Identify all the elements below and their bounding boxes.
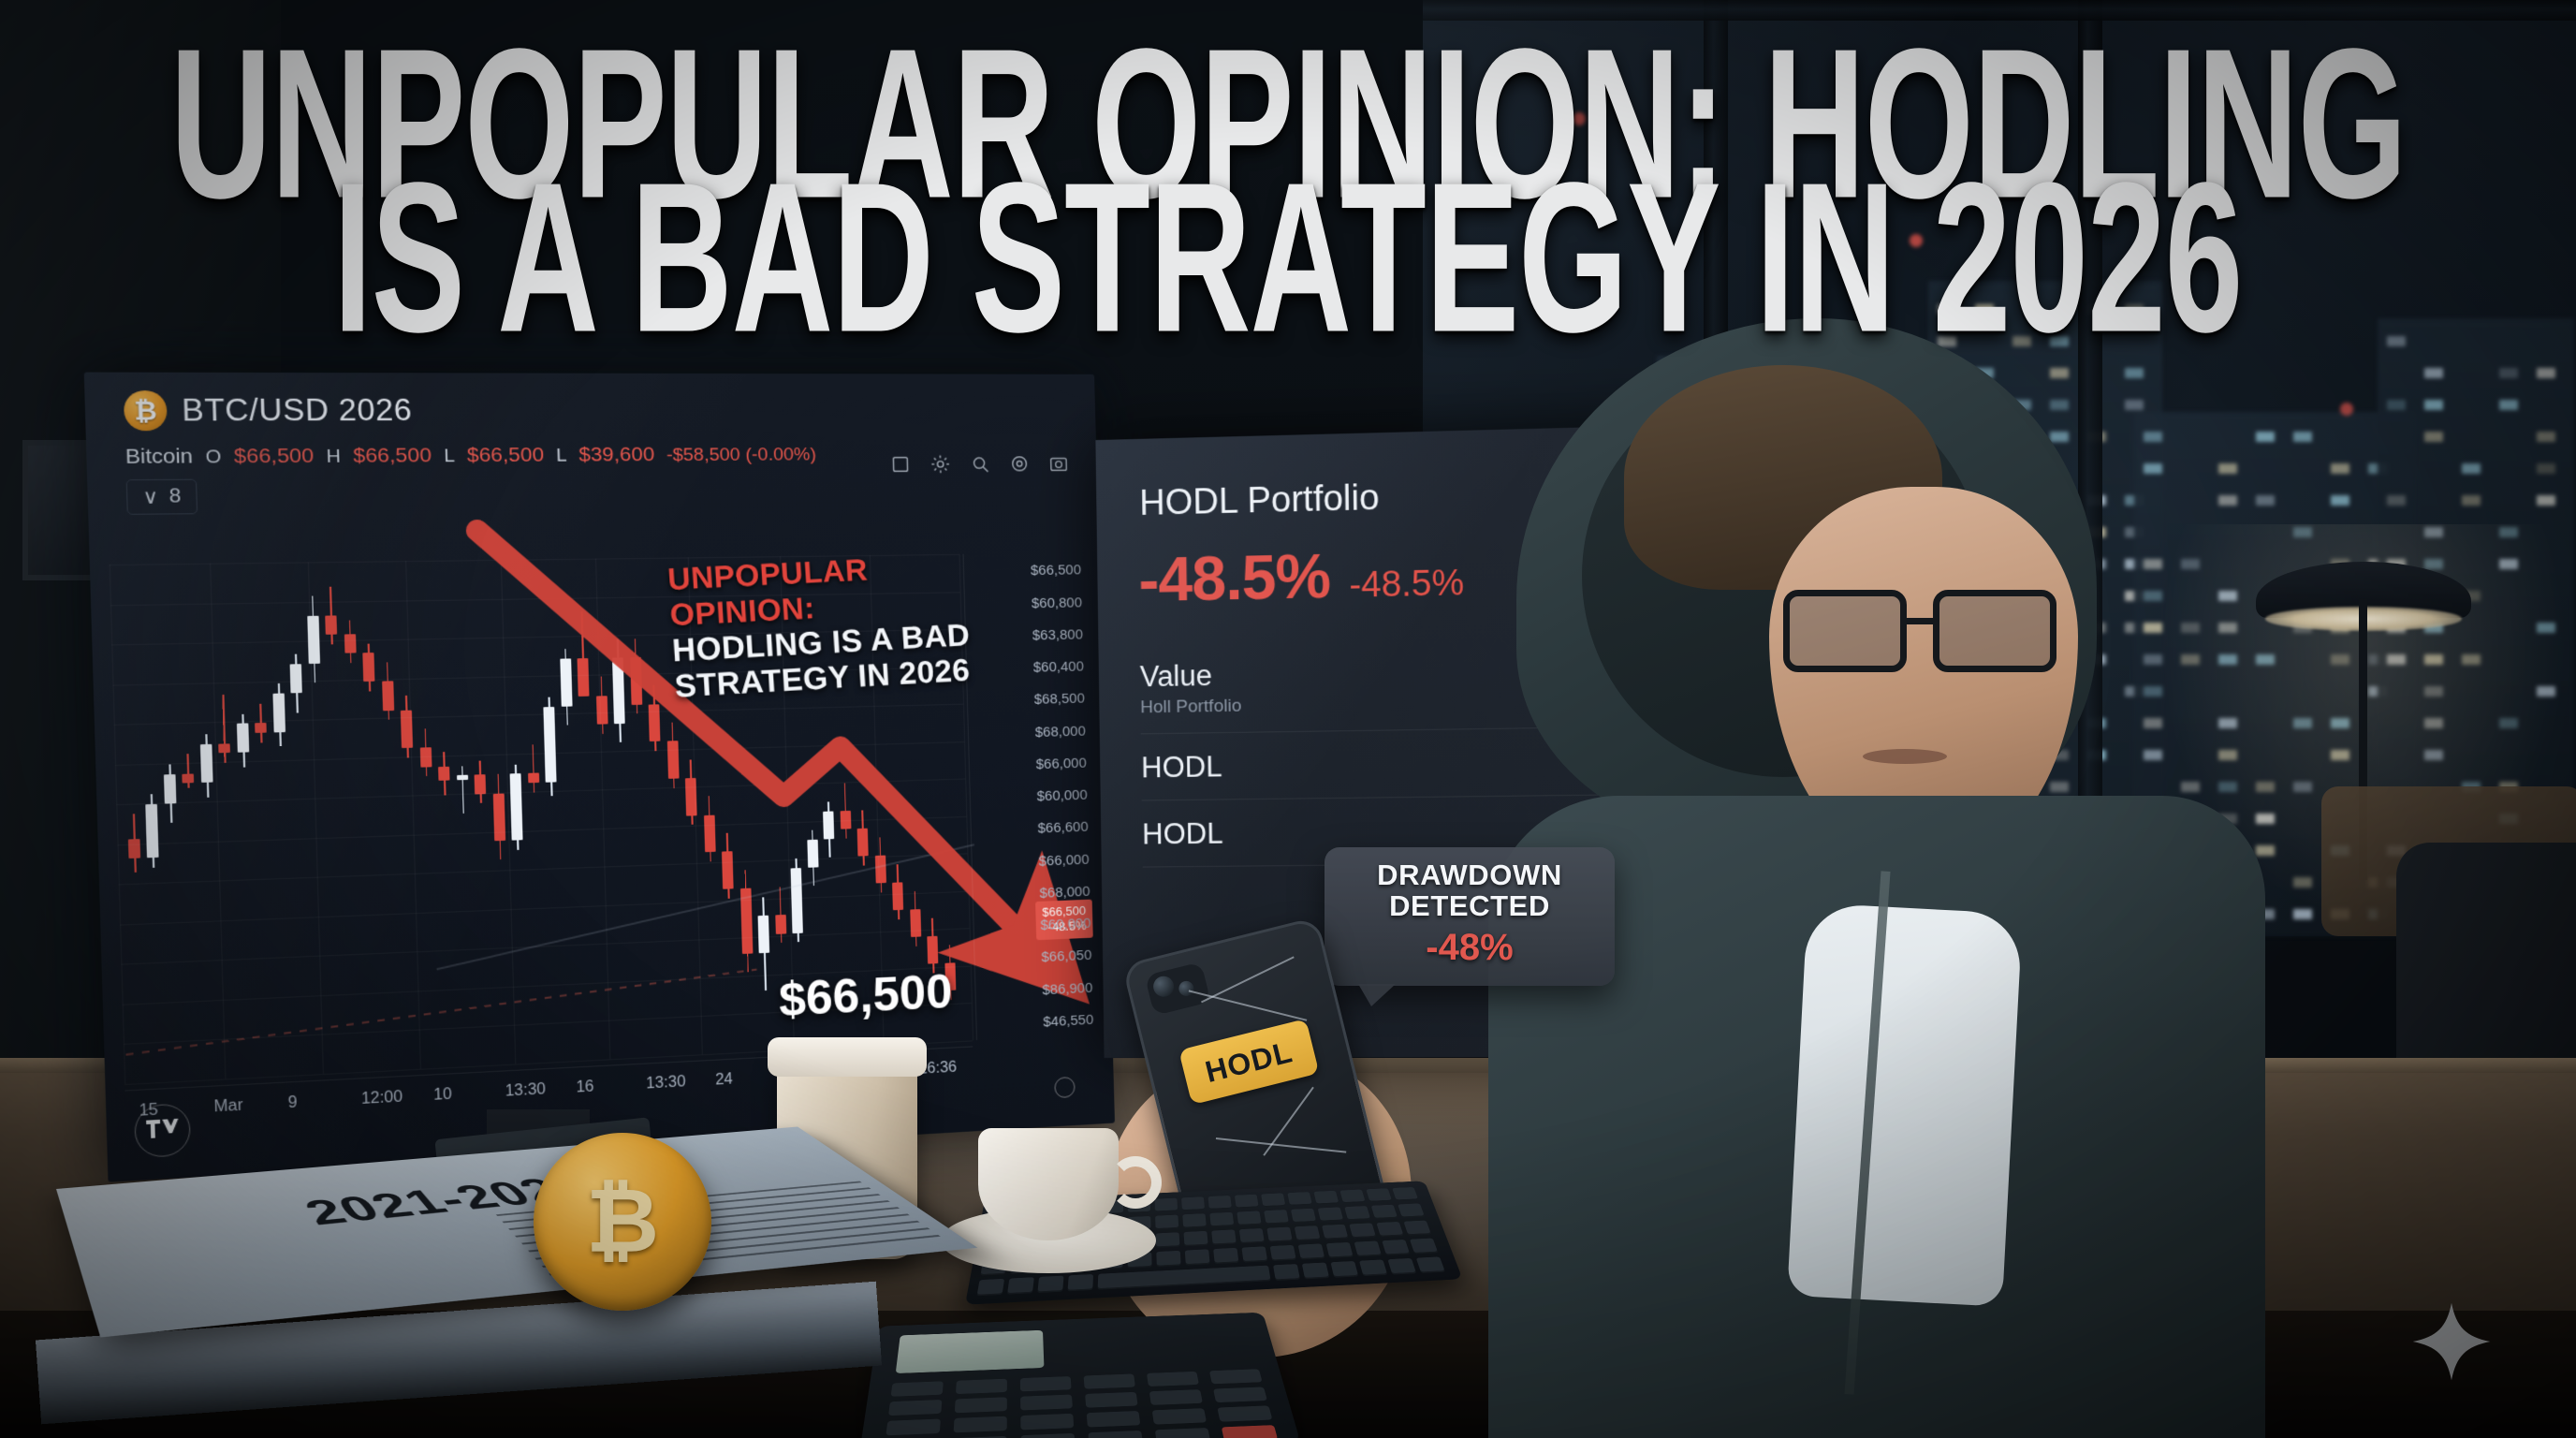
screen-crack: [1216, 1137, 1346, 1152]
calculator-key[interactable]: [1084, 1373, 1135, 1388]
screen-crack: [1189, 990, 1308, 1020]
price-axis-label: $68,000: [1035, 723, 1086, 740]
candle-body: [164, 774, 176, 804]
keyboard-key[interactable]: [1322, 1225, 1348, 1240]
price-axis-label: $60,000: [1040, 916, 1090, 933]
candle-body: [344, 634, 357, 653]
keyboard-key[interactable]: [1098, 1266, 1271, 1290]
calculator-key[interactable]: [1155, 1428, 1211, 1438]
keyboard-key[interactable]: [1270, 1245, 1296, 1261]
keyboard-key[interactable]: [1398, 1203, 1425, 1217]
keyboard-key[interactable]: [1287, 1192, 1312, 1206]
calculator-key[interactable]: [1020, 1414, 1074, 1431]
calculator-key[interactable]: [1085, 1392, 1137, 1408]
cup-handle: [1109, 1156, 1162, 1209]
tradingview-logo-icon: [134, 1103, 191, 1158]
candle-body: [219, 743, 231, 754]
keyboard-key[interactable]: [1237, 1211, 1261, 1225]
time-axis-label: Mar: [213, 1097, 243, 1117]
candle-body: [326, 615, 338, 635]
price-axis-label: $60,000: [1037, 787, 1088, 805]
time-axis-label: 24: [715, 1071, 733, 1090]
candle-body: [420, 747, 432, 767]
ohlc-low-key: L: [444, 446, 455, 467]
price-axis-label: $66,600: [1037, 819, 1088, 837]
ohlc-high-value: $66,500: [353, 444, 432, 468]
settings-gear-icon[interactable]: [929, 454, 951, 479]
calculator-key[interactable]: [891, 1381, 944, 1396]
ohlc-close-value: $39,600: [578, 443, 655, 466]
calculator-key[interactable]: [956, 1379, 1007, 1394]
keyboard-key[interactable]: [1239, 1228, 1265, 1243]
keyboard-key[interactable]: [977, 1279, 1005, 1297]
clock-icon[interactable]: [1054, 1077, 1075, 1098]
keyboard-key[interactable]: [1155, 1215, 1178, 1230]
portfolio-change-row: -48.5% -48.5%: [1138, 536, 1465, 615]
keyboard-key[interactable]: [1349, 1223, 1376, 1238]
keyboard-key[interactable]: [1183, 1231, 1207, 1246]
screen-crack: [1201, 956, 1295, 1003]
keyboard-key[interactable]: [1326, 1242, 1354, 1258]
chart-symbol: BTC/USD 2026: [182, 392, 413, 429]
keyboard-key[interactable]: [1382, 1240, 1410, 1255]
coffee-cup-lid: [768, 1037, 927, 1077]
camera-lens-icon: [1178, 979, 1195, 997]
candle-body: [382, 682, 394, 711]
keyboard-key[interactable]: [1416, 1256, 1445, 1273]
keyboard-key[interactable]: [1209, 1212, 1234, 1227]
candle-body: [183, 773, 195, 784]
keyboard-key[interactable]: [1037, 1276, 1063, 1293]
bitcoin-icon: ₿: [124, 390, 168, 431]
portfolio-pct-large: -48.5%: [1138, 540, 1331, 616]
calculator-key[interactable]: [1149, 1389, 1203, 1405]
keyboard-key[interactable]: [1182, 1213, 1207, 1228]
keyboard-key[interactable]: [1007, 1277, 1034, 1294]
keyboard-key[interactable]: [1156, 1232, 1180, 1248]
calculator-key[interactable]: [1213, 1387, 1267, 1402]
keyboard-key[interactable]: [1344, 1206, 1370, 1220]
time-axis-label: 13:30: [646, 1074, 686, 1093]
keyboard-key[interactable]: [1241, 1246, 1267, 1262]
candle-body: [146, 803, 159, 858]
keyboard-key[interactable]: [1298, 1243, 1325, 1259]
portfolio-row-label: HODL: [1142, 817, 1223, 852]
keyboard-key[interactable]: [1264, 1210, 1289, 1225]
candle-body: [200, 743, 213, 783]
price-axis-label: $46,550: [1043, 1012, 1093, 1031]
calculator-key[interactable]: [1088, 1431, 1143, 1438]
portfolio-row-label: Value: [1140, 658, 1242, 694]
price-axis-label: $86,900: [1042, 979, 1092, 998]
ohlc-close-key: L: [556, 446, 567, 467]
keyboard-key[interactable]: [1354, 1240, 1383, 1256]
drawdown-percent: -48%: [1334, 927, 1605, 969]
keyboard-key[interactable]: [1376, 1222, 1403, 1237]
calculator[interactable]: [858, 1313, 1301, 1438]
drawdown-line-2: DETECTED: [1334, 891, 1605, 922]
calculator-key[interactable]: [885, 1418, 941, 1435]
sparkle-watermark-icon: [2411, 1301, 2492, 1382]
search-icon[interactable]: [970, 453, 991, 478]
calculator-key[interactable]: [1020, 1376, 1072, 1391]
time-axis-label: 9: [287, 1094, 298, 1113]
timeframe-selector[interactable]: ∨ 8: [126, 479, 198, 515]
keyboard-key[interactable]: [1330, 1261, 1358, 1278]
calculator-key[interactable]: [1020, 1395, 1073, 1411]
keyboard-key[interactable]: [1156, 1251, 1180, 1267]
portfolio-pct-small: -48.5%: [1349, 564, 1464, 607]
keyboard-key[interactable]: [1295, 1225, 1321, 1240]
calculator-display: [896, 1330, 1045, 1373]
candle-body: [128, 839, 140, 858]
keyboard-key[interactable]: [1371, 1205, 1398, 1219]
ohlc-low-value: $66,500: [466, 444, 544, 468]
calculator-key[interactable]: [1217, 1405, 1272, 1421]
chart-screen[interactable]: ₿ BTC/USD 2026 Bitcoin O $66,500 H $66,5…: [84, 373, 1115, 1182]
portfolio-row-sublabel: Holl Portfolio: [1140, 697, 1241, 719]
keyboard-key[interactable]: [1211, 1229, 1237, 1244]
coffee-cup: [978, 1128, 1119, 1240]
calculator-key[interactable]: [888, 1400, 942, 1416]
calculator-key[interactable]: [954, 1416, 1007, 1433]
price-axis-label: $66,050: [1041, 947, 1091, 965]
keyboard-key[interactable]: [1266, 1227, 1293, 1242]
calculator-key[interactable]: [1087, 1411, 1141, 1428]
price-axis-label: $68,000: [1039, 884, 1090, 902]
portfolio-row-label: HODL: [1141, 750, 1222, 785]
ohlc-open-value: $66,500: [234, 445, 315, 469]
scene-background: ₿ BTC/USD 2026 Bitcoin O $66,500 H $66,5…: [0, 0, 2576, 1438]
price-axis-label: $63,800: [1032, 626, 1083, 643]
portfolio-row-label-group: HODL: [1141, 750, 1222, 785]
ohlc-change: -$58,500 (-0.00%): [666, 445, 817, 466]
tshirt: [1787, 902, 2023, 1306]
keyboard-key[interactable]: [1403, 1221, 1431, 1236]
calculator-key[interactable]: [1222, 1425, 1278, 1438]
time-axis-label: 10: [433, 1086, 452, 1105]
target-icon[interactable]: [1009, 453, 1031, 478]
candle-body: [363, 653, 375, 682]
portfolio-title: HODL Portfolio: [1139, 478, 1380, 524]
camera-icon[interactable]: [1048, 453, 1070, 478]
drawdown-line-1: DRAWDOWN: [1334, 860, 1605, 891]
keyboard-key[interactable]: [1291, 1209, 1316, 1224]
keyboard-key[interactable]: [1366, 1188, 1392, 1202]
time-axis-label: 16: [576, 1078, 594, 1097]
portfolio-row-label-group: ValueHoll Portfolio: [1140, 658, 1242, 718]
price-axis-label: $60,800: [1032, 594, 1082, 611]
ohlc-open-key: O: [205, 447, 221, 469]
chevron-down-icon: ∨: [142, 484, 159, 509]
calculator-key[interactable]: [1147, 1372, 1199, 1387]
keyboard-key[interactable]: [1318, 1207, 1344, 1222]
price-axis-label: $68,500: [1034, 691, 1085, 708]
person-frustrated-trader: [1460, 309, 2565, 1438]
keyboard-key[interactable]: [1208, 1196, 1232, 1210]
phone-camera-bump: [1145, 961, 1211, 1016]
keyboard-key[interactable]: [1068, 1274, 1093, 1291]
calculator-key[interactable]: [955, 1397, 1007, 1413]
price-axis-label: $66,500: [1031, 563, 1081, 580]
candle-body: [290, 664, 302, 693]
candle-body: [256, 723, 268, 733]
price-axis-label: $66,000: [1038, 851, 1089, 869]
portfolio-row-label-group: HODL: [1142, 817, 1223, 852]
hand-on-head: [1601, 449, 1938, 852]
keyboard-key[interactable]: [1213, 1248, 1238, 1264]
glasses-lens-right: [1933, 590, 2056, 672]
keyboard-key[interactable]: [1235, 1195, 1259, 1209]
hodl-sticker: HODL: [1178, 1019, 1319, 1105]
price-axis-label: $60,400: [1033, 659, 1084, 676]
bitcoin-symbol: ₿: [586, 1170, 659, 1273]
price-axis[interactable]: $66,500 -48.5% $66,500$60,800$63,800$60,…: [963, 552, 1098, 1040]
price-axis-label: $66,000: [1036, 755, 1087, 772]
calculator-key[interactable]: [1021, 1433, 1076, 1438]
keyboard-key[interactable]: [1392, 1187, 1418, 1201]
layout-icon[interactable]: [889, 454, 911, 480]
keyboard-key[interactable]: [1410, 1239, 1438, 1255]
drawdown-badge: DRAWDOWN DETECTED -48%: [1325, 847, 1615, 986]
keyboard-key[interactable]: [1185, 1249, 1210, 1265]
calculator-key[interactable]: [1209, 1369, 1263, 1384]
keyboard-key[interactable]: [1359, 1259, 1387, 1276]
keyboard-key[interactable]: [1181, 1196, 1205, 1211]
candle-body: [237, 724, 249, 753]
keyboard-key[interactable]: [1313, 1191, 1339, 1205]
keyboard-key[interactable]: [1261, 1193, 1285, 1207]
candle-body: [272, 694, 285, 733]
keyboard-key[interactable]: [1273, 1264, 1300, 1281]
camera-lens-icon: [1151, 974, 1177, 999]
timeframe-value: 8: [168, 485, 181, 508]
keyboard-key[interactable]: [1302, 1263, 1329, 1280]
keyboard-key[interactable]: [1155, 1198, 1178, 1212]
ohlc-instrument: Bitcoin: [125, 445, 194, 469]
ohlc-high-key: H: [326, 447, 341, 468]
price-callout: $66,500: [778, 963, 953, 1027]
keyboard-key[interactable]: [1387, 1258, 1416, 1275]
chart-header: ₿ BTC/USD 2026 Bitcoin O $66,500 H $66,5…: [124, 390, 1064, 515]
time-axis-label: 12:00: [361, 1089, 403, 1108]
keyboard-key[interactable]: [1339, 1190, 1365, 1204]
chart-monitor[interactable]: ₿ BTC/USD 2026 Bitcoin O $66,500 H $66,5…: [84, 373, 1115, 1182]
calculator-key[interactable]: [1152, 1408, 1207, 1424]
time-axis-label: 13:30: [505, 1081, 546, 1101]
chart-toolbar[interactable]: [889, 453, 1069, 479]
bitcoin-coin-prop: ₿: [534, 1133, 711, 1311]
chart-overlay-headline: UNPOPULAR OPINION: HODLING IS A BAD STRA…: [666, 546, 1012, 705]
